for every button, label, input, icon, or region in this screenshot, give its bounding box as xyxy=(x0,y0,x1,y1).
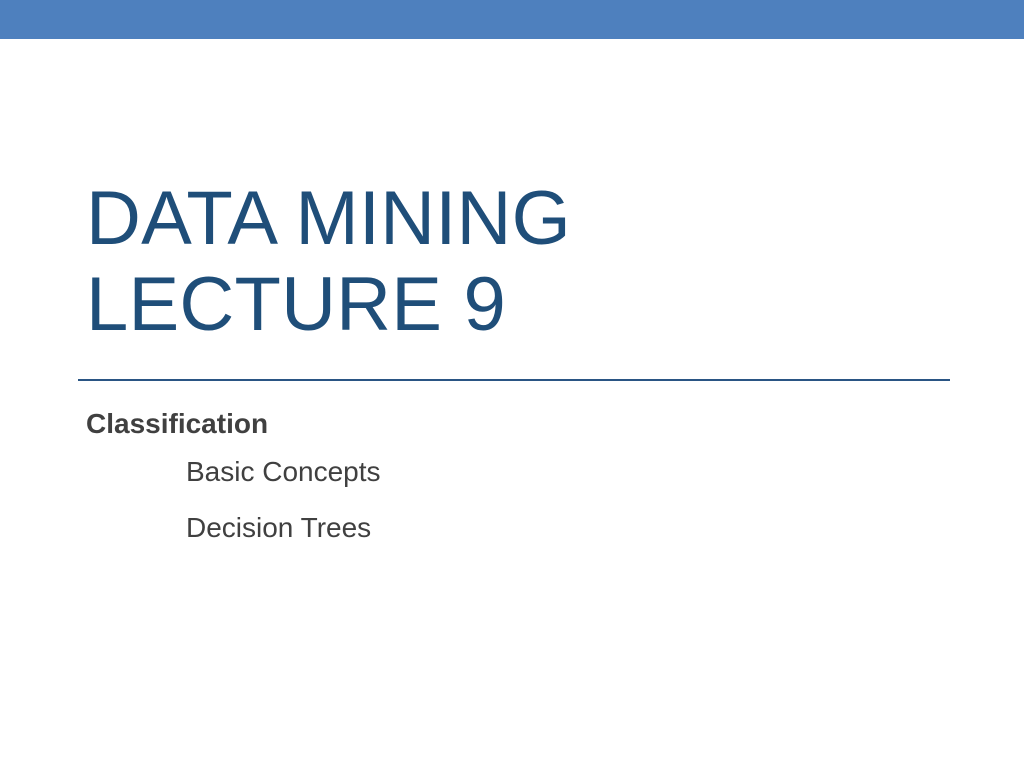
title-block: DATA MINING LECTURE 9 xyxy=(86,176,956,348)
subtitle-item-basic-concepts: Basic Concepts xyxy=(86,444,946,500)
title-slide: DATA MINING LECTURE 9 Classification Bas… xyxy=(0,0,1024,768)
title-divider xyxy=(78,379,950,381)
subtitle-block: Classification Basic Concepts Decision T… xyxy=(86,404,946,556)
page-title: DATA MINING LECTURE 9 xyxy=(86,176,956,348)
top-accent-bar xyxy=(0,0,1024,39)
subtitle-heading: Classification xyxy=(86,404,946,444)
subtitle-item-decision-trees: Decision Trees xyxy=(86,500,946,556)
